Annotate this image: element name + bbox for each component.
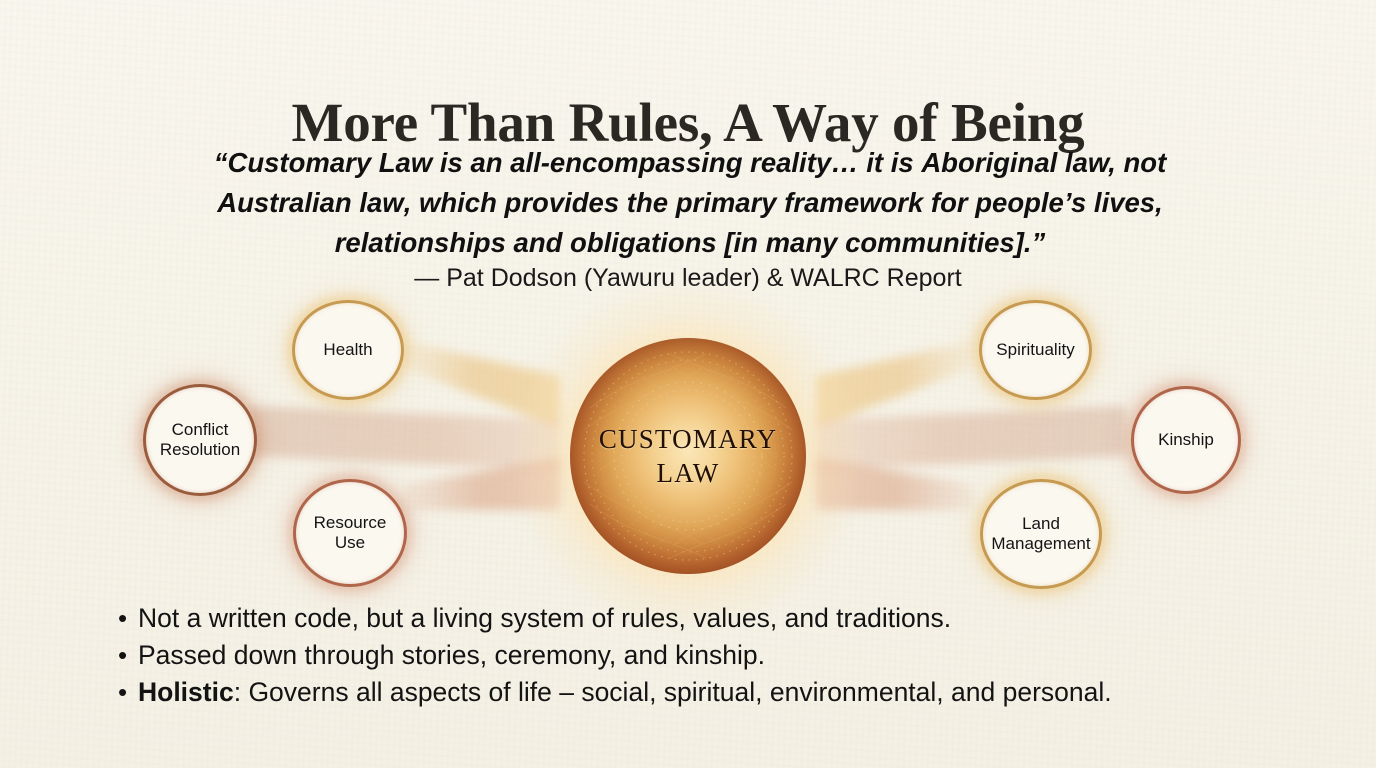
list-item: •Not a written code, but a living system… <box>118 600 1318 637</box>
list-item: •Passed down through stories, ceremony, … <box>118 637 1318 674</box>
list-item-text: Holistic: Governs all aspects of life – … <box>138 674 1112 711</box>
quote-segment: … it is <box>831 147 921 178</box>
node-land-management[interactable]: Land Management <box>980 479 1102 589</box>
list-item-segment: : Governs all aspects of life – social, … <box>234 677 1112 707</box>
list-item-text: Not a written code, but a living system … <box>138 600 951 637</box>
quote-segment: all-encompassing reality <box>510 147 831 178</box>
node-resource-use[interactable]: Resource Use <box>293 479 407 587</box>
ray-conflict-resolution <box>250 406 560 470</box>
quote-segment: “Customary Law <box>214 147 433 178</box>
list-item-segment: Not a written code, but a living system … <box>138 603 951 633</box>
node-kinship-label: Kinship <box>1154 430 1218 450</box>
bullet-marker-icon: • <box>118 674 138 711</box>
pull-quote: “Customary Law is an all-encompassing re… <box>150 143 1230 263</box>
node-health-label: Health <box>319 340 376 360</box>
key-points-list: •Not a written code, but a living system… <box>118 600 1318 711</box>
quote-segment: [in many communities].” <box>717 227 1046 258</box>
list-item-segment: Passed down through stories, ceremony, a… <box>138 640 765 670</box>
center-label-line2: LAW <box>657 456 720 490</box>
node-spirituality[interactable]: Spirituality <box>979 300 1092 400</box>
quote-segment: is an <box>432 147 510 178</box>
center-node-label: CUSTOMARY LAW <box>570 338 806 574</box>
node-health[interactable]: Health <box>292 300 404 400</box>
center-node-customary-law[interactable]: CUSTOMARY LAW <box>562 330 814 582</box>
list-item-text: Passed down through stories, ceremony, a… <box>138 637 765 674</box>
node-conflict-resolution-label: Conflict Resolution <box>146 420 254 460</box>
node-resource-use-label: Resource Use <box>296 513 404 553</box>
node-spirituality-label: Spirituality <box>992 340 1078 360</box>
ray-kinship <box>816 406 1126 470</box>
list-item-segment: Holistic <box>138 677 234 707</box>
quote-segment: , which provides the <box>404 187 676 218</box>
bullet-marker-icon: • <box>118 637 138 674</box>
list-item: •Holistic: Governs all aspects of life –… <box>118 674 1318 711</box>
center-label-line1: CUSTOMARY <box>599 422 777 456</box>
bullet-marker-icon: • <box>118 600 138 637</box>
node-kinship[interactable]: Kinship <box>1131 386 1241 494</box>
node-conflict-resolution[interactable]: Conflict Resolution <box>143 384 257 496</box>
center-disc: CUSTOMARY LAW <box>570 338 806 574</box>
node-land-management-label: Land Management <box>983 514 1099 554</box>
